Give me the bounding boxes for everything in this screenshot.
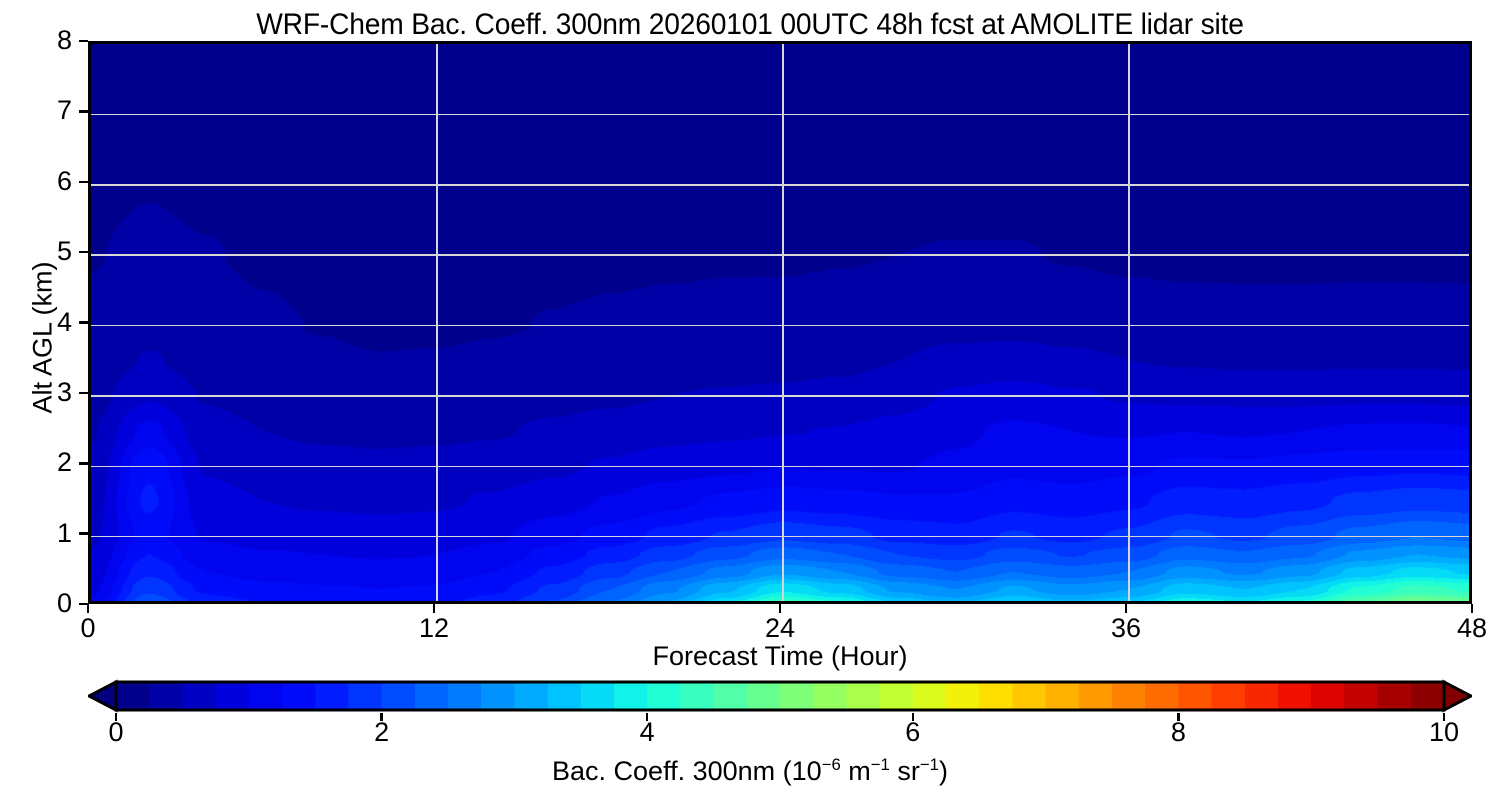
colorbar-band xyxy=(1046,682,1080,710)
colorbar-band xyxy=(415,682,449,710)
x-tick-label: 24 xyxy=(735,615,825,642)
colorbar-tick-label: 6 xyxy=(868,719,958,746)
x-axis-title: Forecast Time (Hour) xyxy=(88,641,1472,672)
colorbar-band xyxy=(1145,682,1179,710)
colorbar-band xyxy=(1112,682,1146,710)
colorbar-exponent-scale: −6 xyxy=(822,755,841,774)
colorbar-band xyxy=(880,682,914,710)
colorbar-band xyxy=(913,682,947,710)
colorbar-band xyxy=(1212,682,1246,710)
x-tick-mark xyxy=(1125,604,1128,613)
colorbar[interactable] xyxy=(88,679,1472,713)
y-tick-mark xyxy=(79,532,88,535)
y-tick-mark xyxy=(79,110,88,113)
colorbar-band xyxy=(1079,682,1113,710)
colorbar-band xyxy=(382,682,416,710)
x-tick-mark xyxy=(433,604,436,613)
heatmap-plot-area[interactable] xyxy=(88,41,1472,604)
colorbar-band xyxy=(216,682,250,710)
colorbar-tick-label: 0 xyxy=(71,719,161,746)
colorbar-band xyxy=(1378,682,1412,710)
colorbar-tick-label: 4 xyxy=(602,719,692,746)
colorbar-band xyxy=(249,682,283,710)
y-axis-title: Alt AGL (km) xyxy=(28,38,59,638)
colorbar-band xyxy=(514,682,548,710)
colorbar-band xyxy=(581,682,615,710)
colorbar-band xyxy=(1178,682,1212,710)
colorbar-exponent-sr: −1 xyxy=(920,755,939,774)
colorbar-band xyxy=(1344,682,1378,710)
x-tick-label: 36 xyxy=(1081,615,1171,642)
y-tick-mark xyxy=(79,462,88,465)
y-tick-mark xyxy=(79,40,88,43)
colorbar-band xyxy=(846,682,880,710)
y-tick-mark xyxy=(79,181,88,184)
colorbar-band xyxy=(1311,682,1345,710)
colorbar-band xyxy=(813,682,847,710)
colorbar-extend-max xyxy=(1444,682,1471,710)
colorbar-band xyxy=(481,682,515,710)
colorbar-band xyxy=(780,682,814,710)
colorbar-tick-label: 10 xyxy=(1399,719,1489,746)
colorbar-tick-label: 2 xyxy=(337,719,427,746)
colorbar-band xyxy=(315,682,349,710)
x-tick-label: 48 xyxy=(1427,615,1500,642)
colorbar-band xyxy=(747,682,781,710)
figure-canvas: WRF-Chem Bac. Coeff. 300nm 20260101 00UT… xyxy=(0,0,1500,800)
x-tick-mark xyxy=(1471,604,1474,613)
colorbar-band xyxy=(614,682,648,710)
heatmap-field xyxy=(91,44,1472,604)
page-title: WRF-Chem Bac. Coeff. 300nm 20260101 00UT… xyxy=(45,8,1455,42)
colorbar-band xyxy=(182,682,216,710)
colorbar-band xyxy=(282,682,316,710)
colorbar-tick-label: 8 xyxy=(1133,719,1223,746)
x-tick-mark xyxy=(87,604,90,613)
y-tick-mark xyxy=(79,321,88,324)
colorbar-band xyxy=(348,682,382,710)
y-tick-mark xyxy=(79,251,88,254)
colorbar-band xyxy=(149,682,183,710)
x-tick-mark xyxy=(779,604,782,613)
colorbar-band xyxy=(548,682,582,710)
colorbar-band xyxy=(979,682,1013,710)
colorbar-band xyxy=(714,682,748,710)
colorbar-gradient xyxy=(88,679,1472,713)
colorbar-title: Bac. Coeff. 300nm (10−6 m−1 sr−1) xyxy=(0,755,1500,787)
colorbar-band xyxy=(448,682,482,710)
colorbar-exponent-metre: −1 xyxy=(871,755,890,774)
colorbar-band xyxy=(1278,682,1312,710)
y-tick-mark xyxy=(79,392,88,395)
colorbar-band xyxy=(1245,682,1279,710)
colorbar-extend-min xyxy=(89,682,116,710)
x-tick-label: 12 xyxy=(389,615,479,642)
colorbar-band xyxy=(1411,682,1445,710)
colorbar-band xyxy=(116,682,150,710)
colorbar-band xyxy=(680,682,714,710)
colorbar-band xyxy=(1012,682,1046,710)
colorbar-band xyxy=(647,682,681,710)
colorbar-band xyxy=(946,682,980,710)
